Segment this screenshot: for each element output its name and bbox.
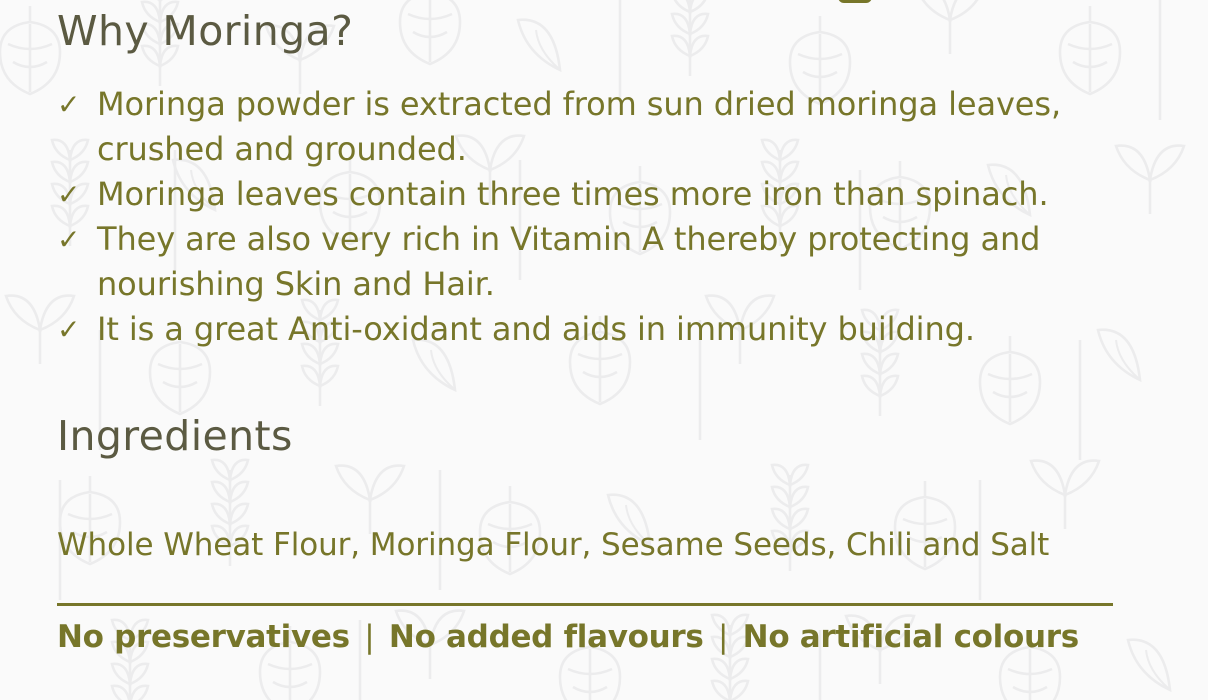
ingredients-heading: Ingredients xyxy=(57,416,293,457)
why-moringa-heading: Why Moringa? xyxy=(57,11,353,52)
ingredients-text: Whole Wheat Flour, Moringa Flour, Sesame… xyxy=(57,523,1117,567)
claim-no-preservatives: No preservatives xyxy=(57,619,350,655)
claim-separator: | xyxy=(360,619,378,655)
claim-separator: | xyxy=(714,619,732,655)
list-item: ✓ They are also very rich in Vitamin A t… xyxy=(57,217,1167,307)
list-item-label: Moringa powder is extracted from sun dri… xyxy=(97,82,1167,172)
claim-no-added-flavours: No added flavours xyxy=(389,619,704,655)
list-item-label: It is a great Anti-oxidant and aids in i… xyxy=(97,307,1167,352)
product-claims-row: No preservatives | No added flavours | N… xyxy=(57,614,1137,660)
list-item-label: Moringa leaves contain three times more … xyxy=(97,172,1167,217)
divider-rule xyxy=(57,603,1113,606)
benefits-list: ✓ Moringa powder is extracted from sun d… xyxy=(57,82,1167,352)
product-info-panel: Why Moringa? ✓ Moringa powder is extract… xyxy=(0,0,1208,700)
list-item: ✓ It is a great Anti-oxidant and aids in… xyxy=(57,307,1167,352)
check-icon: ✓ xyxy=(57,172,97,217)
claim-no-artificial-colours: No artificial colours xyxy=(743,619,1079,655)
check-icon: ✓ xyxy=(57,217,97,262)
check-icon: ✓ xyxy=(57,82,97,127)
list-item: ✓ Moringa leaves contain three times mor… xyxy=(57,172,1167,217)
check-icon: ✓ xyxy=(57,307,97,352)
list-item: ✓ Moringa powder is extracted from sun d… xyxy=(57,82,1167,172)
list-item-label: They are also very rich in Vitamin A the… xyxy=(97,217,1167,307)
